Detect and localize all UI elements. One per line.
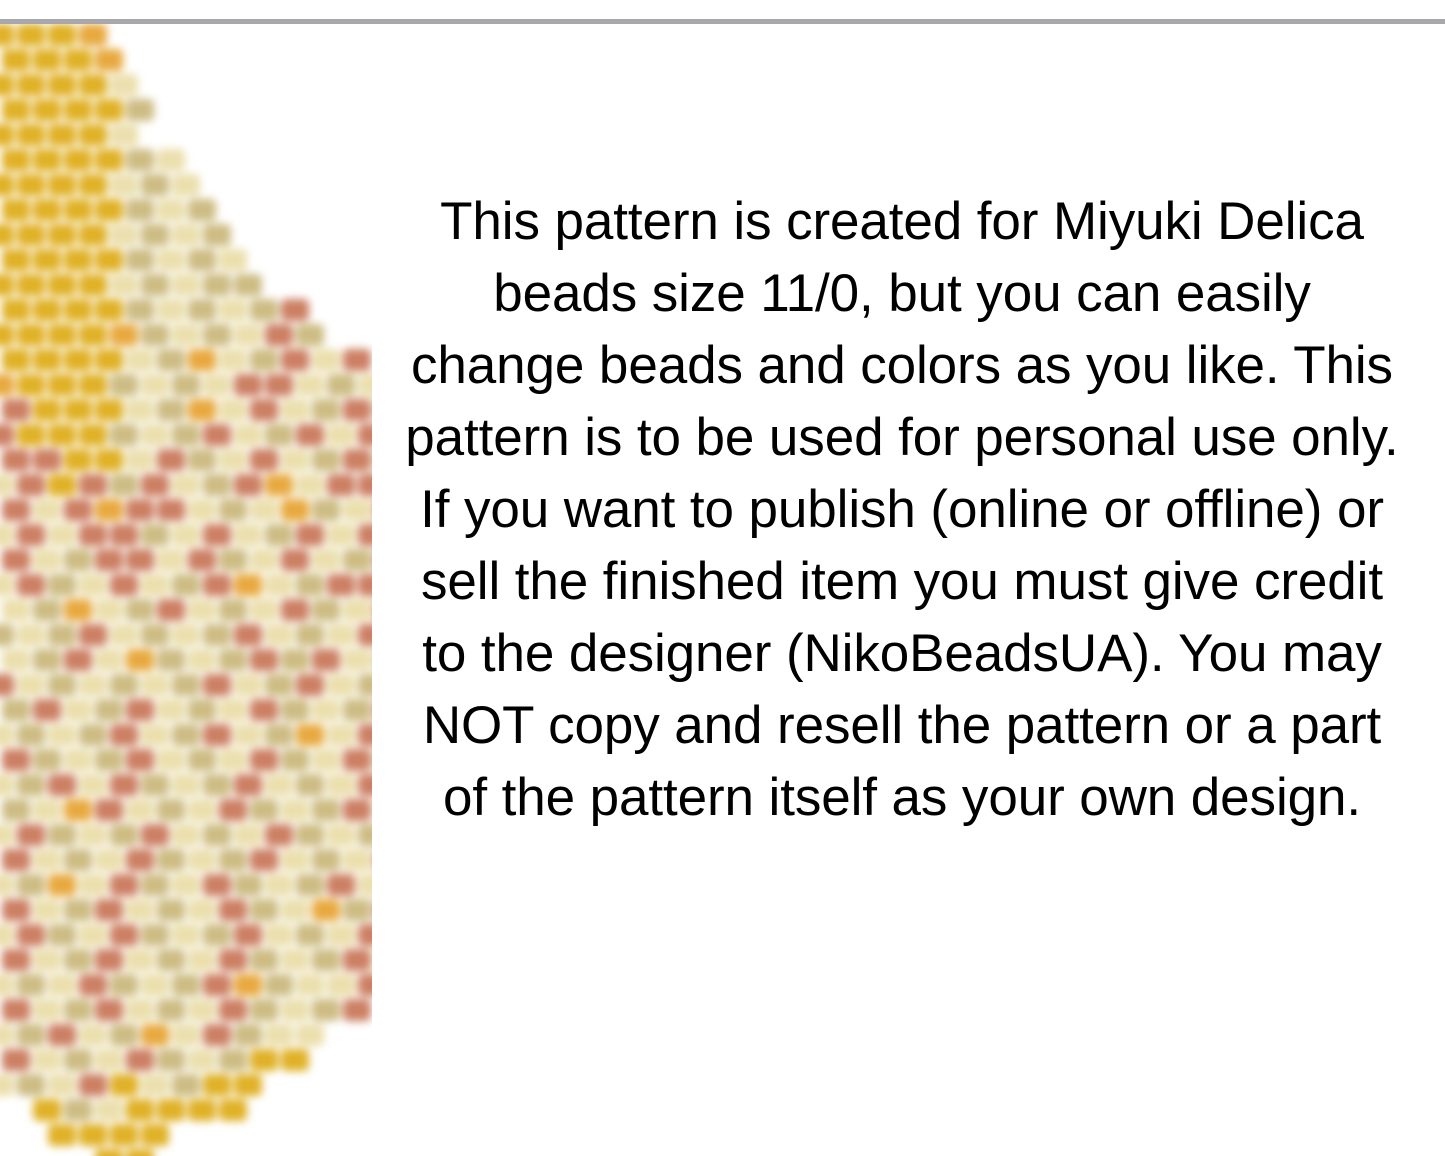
bead-cell xyxy=(48,774,76,796)
bead-cell xyxy=(95,899,123,921)
bead-cell xyxy=(48,224,76,246)
bead-cell xyxy=(141,524,169,546)
bead-cell xyxy=(64,999,92,1021)
bead-cell xyxy=(234,474,262,496)
bead-cell xyxy=(188,449,216,471)
bead-cell xyxy=(33,949,61,971)
bead-cell xyxy=(141,874,169,896)
bead-cell xyxy=(234,624,262,646)
bead-cell xyxy=(64,299,92,321)
bead-cell xyxy=(33,549,61,571)
bead-cell xyxy=(157,699,185,721)
bead-cell xyxy=(17,474,45,496)
bead-cell xyxy=(265,774,293,796)
bead-cell xyxy=(110,174,138,196)
bead-cell xyxy=(79,624,107,646)
bead-cell xyxy=(0,574,14,596)
bead-cell xyxy=(188,299,216,321)
bead-cell xyxy=(296,624,324,646)
bead-cell xyxy=(327,374,355,396)
bead-cell xyxy=(64,249,92,271)
bead-cell xyxy=(203,274,231,296)
bead-cell xyxy=(17,524,45,546)
bead-cell xyxy=(188,1099,216,1121)
bead-cell xyxy=(48,674,76,696)
bead-cell xyxy=(2,699,30,721)
bead-cell xyxy=(2,899,30,921)
bead-cell xyxy=(219,599,247,621)
bead-cell xyxy=(79,174,107,196)
bead-cell xyxy=(33,149,61,171)
bead-cell xyxy=(358,974,372,996)
bead-cell xyxy=(48,1124,76,1146)
bead-cell xyxy=(48,624,76,646)
bead-cell xyxy=(296,874,324,896)
bead-cell xyxy=(157,299,185,321)
bead-cell xyxy=(95,149,123,171)
bead-cell xyxy=(281,399,309,421)
bead-cell xyxy=(48,424,76,446)
bead-cell xyxy=(312,799,340,821)
bead-cell xyxy=(265,624,293,646)
bead-cell xyxy=(17,224,45,246)
bead-cell xyxy=(265,1024,293,1046)
bead-cell xyxy=(48,174,76,196)
bead-cell xyxy=(265,524,293,546)
bead-cell xyxy=(327,924,355,946)
bead-cell xyxy=(79,524,107,546)
bead-cell xyxy=(95,449,123,471)
bead-cell xyxy=(203,374,231,396)
bead-cell xyxy=(64,99,92,121)
bead-cell xyxy=(33,849,61,871)
bead-cell xyxy=(64,899,92,921)
bead-cell xyxy=(157,999,185,1021)
bead-cell xyxy=(188,599,216,621)
bead-cell xyxy=(0,624,14,646)
bead-cell xyxy=(95,199,123,221)
bead-cell xyxy=(281,349,309,371)
bead-cell xyxy=(0,1024,14,1046)
bead-cell xyxy=(126,349,154,371)
bead-cell xyxy=(203,774,231,796)
bead-cell xyxy=(219,949,247,971)
bead-cell xyxy=(64,599,92,621)
bead-cell xyxy=(64,549,92,571)
bead-cell xyxy=(327,574,355,596)
bead-cell xyxy=(2,799,30,821)
bead-cell xyxy=(250,949,278,971)
bead-cell xyxy=(110,774,138,796)
bead-cell xyxy=(64,399,92,421)
bead-cell xyxy=(281,449,309,471)
bead-cell xyxy=(203,324,231,346)
bead-cell xyxy=(64,849,92,871)
bead-cell xyxy=(234,1074,262,1096)
bead-cell xyxy=(110,574,138,596)
bead-cell xyxy=(157,399,185,421)
bead-cell xyxy=(95,349,123,371)
bead-cell xyxy=(2,299,30,321)
bead-cell xyxy=(2,1049,30,1071)
bead-cell xyxy=(2,149,30,171)
bead-cell xyxy=(17,924,45,946)
bead-cell xyxy=(157,349,185,371)
bead-cell xyxy=(296,574,324,596)
bead-cell xyxy=(358,524,372,546)
bead-cell xyxy=(33,99,61,121)
bead-cell xyxy=(157,449,185,471)
bead-cell xyxy=(0,924,14,946)
bead-cell xyxy=(265,924,293,946)
bead-cell xyxy=(126,949,154,971)
bead-cell xyxy=(126,1099,154,1121)
bead-cell xyxy=(172,724,200,746)
bead-cell xyxy=(17,674,45,696)
bead-cell xyxy=(126,99,154,121)
bead-cell xyxy=(281,699,309,721)
bead-cell xyxy=(0,674,14,696)
bead-cell xyxy=(110,74,138,96)
bead-cell xyxy=(95,399,123,421)
bead-cell xyxy=(343,349,371,371)
notice-text-column: This pattern is created for Miyuki Delic… xyxy=(402,186,1402,834)
bead-cell xyxy=(33,749,61,771)
bead-cell xyxy=(343,999,371,1021)
bead-cell xyxy=(110,824,138,846)
bead-cell xyxy=(250,749,278,771)
bead-cell xyxy=(126,249,154,271)
bead-cell xyxy=(281,849,309,871)
bead-cell xyxy=(48,1074,76,1096)
bead-cell xyxy=(234,1024,262,1046)
bead-cell xyxy=(281,1049,309,1071)
bead-cell xyxy=(33,799,61,821)
bead-cell xyxy=(172,674,200,696)
bead-cell xyxy=(141,224,169,246)
bead-cell xyxy=(312,449,340,471)
bead-cell xyxy=(172,424,200,446)
bead-cell xyxy=(17,274,45,296)
bead-cell xyxy=(327,824,355,846)
bead-cell xyxy=(157,1099,185,1121)
bead-cell xyxy=(141,1074,169,1096)
bead-cell xyxy=(17,724,45,746)
bead-cell xyxy=(172,874,200,896)
bead-cell xyxy=(250,299,278,321)
bead-cell xyxy=(219,849,247,871)
bead-cell xyxy=(203,224,231,246)
bead-cell xyxy=(110,1024,138,1046)
bead-cell xyxy=(327,474,355,496)
bead-cell xyxy=(48,974,76,996)
bead-cell xyxy=(48,324,76,346)
bead-cell xyxy=(157,749,185,771)
bead-cell xyxy=(157,899,185,921)
bead-cell xyxy=(343,499,371,521)
bead-cell xyxy=(2,399,30,421)
bead-cell xyxy=(343,849,371,871)
bead-cell xyxy=(327,524,355,546)
bead-cell xyxy=(95,949,123,971)
bead-cell xyxy=(358,374,372,396)
bead-cell xyxy=(110,724,138,746)
bead-cell xyxy=(64,749,92,771)
bead-cell xyxy=(110,624,138,646)
bead-cell xyxy=(234,424,262,446)
bead-cell xyxy=(126,699,154,721)
bead-cell xyxy=(141,1124,169,1146)
bead-cell xyxy=(95,499,123,521)
bead-cell xyxy=(327,674,355,696)
bead-cell xyxy=(358,824,372,846)
bead-cell xyxy=(219,399,247,421)
bead-cell xyxy=(157,949,185,971)
bead-cell xyxy=(110,124,138,146)
bead-cell xyxy=(203,924,231,946)
bead-cell xyxy=(95,849,123,871)
bead-cell xyxy=(296,724,324,746)
bead-cell xyxy=(265,424,293,446)
bead-cell xyxy=(33,1099,61,1121)
bead-cell xyxy=(172,774,200,796)
bead-cell xyxy=(17,124,45,146)
bead-cell xyxy=(172,974,200,996)
bead-cell xyxy=(79,224,107,246)
bead-cell xyxy=(79,824,107,846)
bead-cell xyxy=(48,924,76,946)
bead-cell xyxy=(48,124,76,146)
bead-cell xyxy=(79,924,107,946)
bead-cell xyxy=(312,899,340,921)
bead-cell xyxy=(265,724,293,746)
bead-cell xyxy=(343,949,371,971)
bead-cell xyxy=(0,824,14,846)
bead-cell xyxy=(48,524,76,546)
bead-cell xyxy=(33,199,61,221)
bead-cell xyxy=(219,699,247,721)
bead-cell xyxy=(2,199,30,221)
bead-cell xyxy=(296,374,324,396)
bead-cell xyxy=(95,649,123,671)
bead-cell xyxy=(48,874,76,896)
bead-cell xyxy=(250,1049,278,1071)
bead-cell xyxy=(203,524,231,546)
bead-cell xyxy=(2,249,30,271)
bead-cell xyxy=(64,1049,92,1071)
bead-cell xyxy=(188,399,216,421)
bead-cell xyxy=(0,474,14,496)
bead-cell xyxy=(281,599,309,621)
bead-cell xyxy=(312,949,340,971)
bead-cell xyxy=(33,999,61,1021)
bead-cell xyxy=(17,1074,45,1096)
bead-cell xyxy=(64,199,92,221)
bead-cell xyxy=(203,824,231,846)
bead-cell xyxy=(17,624,45,646)
bead-cell xyxy=(95,99,123,121)
bead-cell xyxy=(343,899,371,921)
bead-cell xyxy=(281,499,309,521)
bead-cell xyxy=(327,874,355,896)
bead-cell xyxy=(141,724,169,746)
bead-cell xyxy=(250,799,278,821)
bead-cell xyxy=(17,774,45,796)
bead-cell xyxy=(33,899,61,921)
bead-cell xyxy=(219,299,247,321)
bead-cell xyxy=(265,574,293,596)
bead-cell xyxy=(157,499,185,521)
bead-cell xyxy=(17,174,45,196)
bead-cell xyxy=(48,74,76,96)
bead-cell xyxy=(0,24,14,46)
bead-cell xyxy=(188,499,216,521)
bead-cell xyxy=(296,424,324,446)
bead-cell xyxy=(79,374,107,396)
bead-cell xyxy=(172,274,200,296)
bead-cell xyxy=(110,474,138,496)
bead-cell xyxy=(141,774,169,796)
bead-cell xyxy=(327,624,355,646)
bead-cell xyxy=(126,449,154,471)
bead-cell xyxy=(33,649,61,671)
bead-cell xyxy=(203,1024,231,1046)
bead-cell xyxy=(48,374,76,396)
bead-cell xyxy=(17,424,45,446)
bead-cell xyxy=(234,874,262,896)
bead-cell xyxy=(95,1149,123,1156)
bead-cell xyxy=(234,674,262,696)
bead-cell xyxy=(188,749,216,771)
bead-cell xyxy=(33,499,61,521)
bead-cell xyxy=(281,299,309,321)
bead-cell xyxy=(17,1024,45,1046)
bead-cell xyxy=(234,924,262,946)
bead-cell xyxy=(172,824,200,846)
bead-cell xyxy=(2,99,30,121)
bead-cell xyxy=(79,24,107,46)
bead-cell xyxy=(2,549,30,571)
bead-cell xyxy=(0,174,14,196)
bead-cell xyxy=(141,974,169,996)
bead-cell xyxy=(0,324,14,346)
bead-cell xyxy=(33,699,61,721)
bead-cell xyxy=(33,49,61,71)
bead-cell xyxy=(141,274,169,296)
bead-cell xyxy=(172,1024,200,1046)
bead-cell xyxy=(126,499,154,521)
bead-cell xyxy=(126,749,154,771)
bead-cell xyxy=(234,374,262,396)
bead-cell xyxy=(281,949,309,971)
bead-cell xyxy=(17,374,45,396)
bead-cell xyxy=(110,974,138,996)
bead-cell xyxy=(0,874,14,896)
bead-cell xyxy=(188,349,216,371)
bead-cell xyxy=(188,1049,216,1071)
bead-cell xyxy=(358,624,372,646)
bead-cell xyxy=(64,699,92,721)
bead-cell xyxy=(2,999,30,1021)
bead-cell xyxy=(203,974,231,996)
bead-cell xyxy=(95,799,123,821)
bead-cell xyxy=(234,524,262,546)
bead-cell xyxy=(157,849,185,871)
bead-cell xyxy=(312,399,340,421)
bead-cell xyxy=(0,1074,14,1096)
bead-cell xyxy=(126,649,154,671)
bead-cell xyxy=(110,924,138,946)
bead-cell xyxy=(203,574,231,596)
bead-cell xyxy=(219,899,247,921)
bead-cell xyxy=(234,824,262,846)
bead-cell xyxy=(203,474,231,496)
bead-cell xyxy=(250,499,278,521)
bead-cell xyxy=(126,799,154,821)
bead-cell xyxy=(172,324,200,346)
bead-cell xyxy=(312,599,340,621)
bead-cell xyxy=(48,274,76,296)
bead-cell xyxy=(95,299,123,321)
bead-cell xyxy=(141,474,169,496)
bead-cell xyxy=(312,649,340,671)
bead-cell xyxy=(79,974,107,996)
bead-cell xyxy=(2,499,30,521)
bead-cell xyxy=(343,649,371,671)
bead-cell xyxy=(2,49,30,71)
bead-cell xyxy=(126,399,154,421)
bead-cell xyxy=(203,624,231,646)
bead-cell xyxy=(157,1049,185,1071)
bead-cell xyxy=(0,974,14,996)
bead-cell xyxy=(33,449,61,471)
bead-cell xyxy=(250,999,278,1021)
bead-pattern-panel xyxy=(0,24,372,1156)
bead-cell xyxy=(219,249,247,271)
bead-cell xyxy=(219,799,247,821)
bead-cell xyxy=(234,274,262,296)
bead-cell xyxy=(0,424,14,446)
bead-cell xyxy=(64,349,92,371)
bead-cell xyxy=(79,774,107,796)
bead-cell xyxy=(95,699,123,721)
bead-cell xyxy=(281,999,309,1021)
bead-cell xyxy=(110,274,138,296)
bead-cell xyxy=(110,874,138,896)
bead-cell xyxy=(312,849,340,871)
bead-cell xyxy=(2,949,30,971)
bead-cell xyxy=(265,874,293,896)
bead-cell xyxy=(110,674,138,696)
bead-cell xyxy=(281,649,309,671)
bead-cell xyxy=(95,999,123,1021)
bead-cell xyxy=(2,599,30,621)
bead-cell xyxy=(188,649,216,671)
bead-cell xyxy=(358,674,372,696)
bead-cell xyxy=(312,699,340,721)
bead-cell xyxy=(141,174,169,196)
bead-cell xyxy=(188,849,216,871)
bead-cell xyxy=(141,674,169,696)
bead-cell xyxy=(95,549,123,571)
bead-cell xyxy=(2,749,30,771)
bead-cell xyxy=(327,774,355,796)
bead-cell xyxy=(172,624,200,646)
bead-cell xyxy=(188,199,216,221)
bead-cell xyxy=(172,174,200,196)
bead-cell xyxy=(172,524,200,546)
bead-cell xyxy=(33,599,61,621)
